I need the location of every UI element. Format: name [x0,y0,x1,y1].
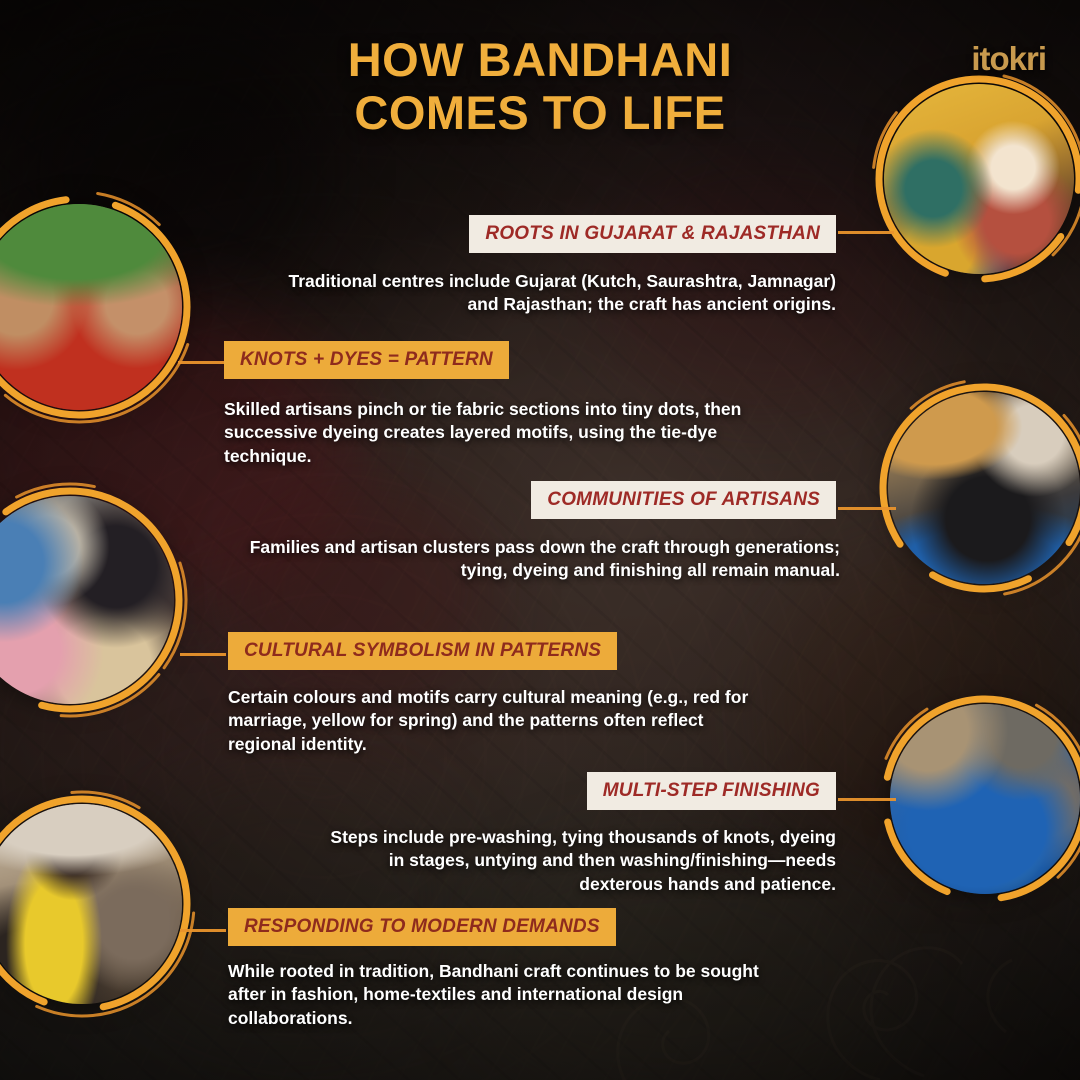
section-label-symbolism[interactable]: CULTURAL SYMBOLISM IN PATTERNS [228,632,617,670]
photo-blue-dye-tub [890,704,1080,894]
section-body-communities: Families and artisan clusters pass down … [240,536,840,583]
photo-women-workshop [0,496,174,704]
section-body-knots: Skilled artisans pinch or tie fabric sec… [224,398,744,468]
section-label-knots[interactable]: KNOTS + DYES = PATTERN [224,341,509,379]
title-line-1: HOW BANDHANI [150,34,930,87]
photo-yellow-dyed-cloth [0,804,182,1004]
photo-image [890,704,1080,894]
section-body-finishing: Steps include pre-washing, tying thousan… [326,826,836,896]
photo-image [0,496,174,704]
section-label-communities[interactable]: COMMUNITIES OF ARTISANS [531,481,836,519]
section-label-modern[interactable]: RESPONDING TO MODERN DEMANDS [228,908,616,946]
title-line-2: COMES TO LIFE [150,87,930,140]
section-label-roots[interactable]: ROOTS IN GUJARAT & RAJASTHAN [469,215,836,253]
connector-line-6 [180,929,226,932]
photo-hands-red-fabric [0,204,182,410]
photo-image [0,204,182,410]
section-body-roots: Traditional centres include Gujarat (Kut… [270,270,836,317]
section-body-modern: While rooted in tradition, Bandhani craf… [228,960,784,1030]
connector-line-2 [178,361,224,364]
page-title: HOW BANDHANI COMES TO LIFE [0,34,1080,139]
connector-line-3 [838,507,896,510]
photo-image [888,392,1080,584]
connector-line-4 [180,653,226,656]
section-label-finishing[interactable]: MULTI-STEP FINISHING [587,772,836,810]
logo-wordmark: itokri [971,40,1046,77]
itokri-logo[interactable]: itokri [971,42,1046,75]
connector-line-5 [838,798,896,801]
section-body-symbolism: Certain colours and motifs carry cultura… [228,686,758,756]
photo-image [0,804,182,1004]
photo-dyer-blue-vat [888,392,1080,584]
connector-line-1 [838,231,894,234]
infographic-canvas: HOW BANDHANI COMES TO LIFE itokri [0,0,1080,1080]
